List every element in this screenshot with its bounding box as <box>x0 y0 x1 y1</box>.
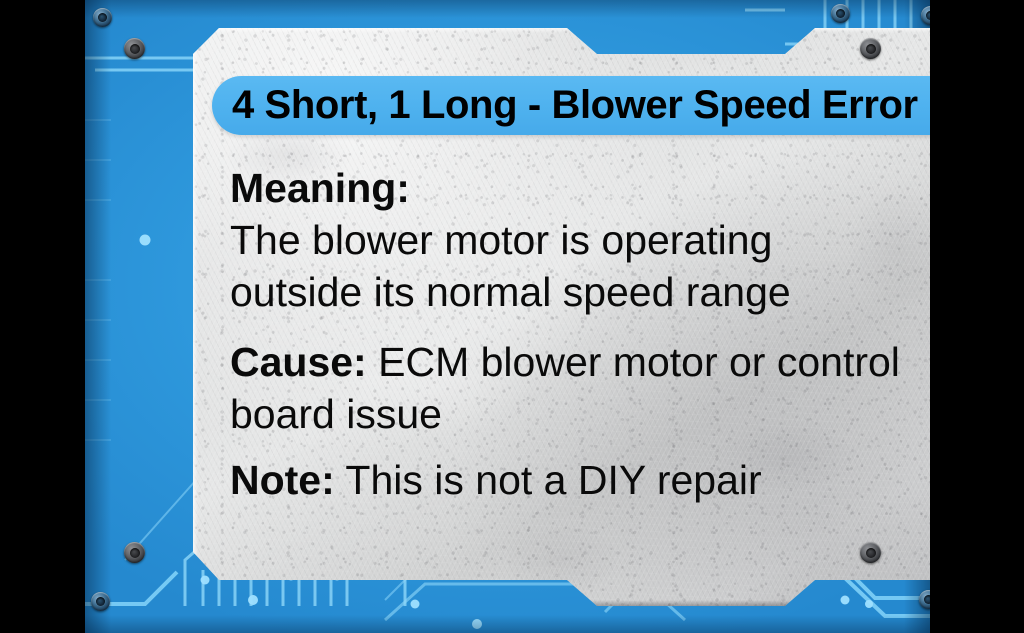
section-note: Note: This is not a DIY repair <box>230 454 930 506</box>
meaning-line-2: outside its normal speed range <box>230 269 791 315</box>
note-label: Note: <box>230 457 335 503</box>
slide-stage: 4 Short, 1 Long - Blower Speed Error Mea… <box>0 0 1024 633</box>
slide-body: Meaning: The blower motor is operating o… <box>230 162 930 520</box>
screw-outer-top-left-icon <box>93 8 112 27</box>
letterbox-left <box>0 0 85 633</box>
screw-top-left-icon <box>124 38 145 59</box>
screw-bottom-right-icon <box>860 542 881 563</box>
page-title: 4 Short, 1 Long - Blower Speed Error <box>232 83 918 128</box>
meaning-label: Meaning: <box>230 165 410 211</box>
note-line-1: This is not a DIY repair <box>345 457 761 503</box>
cause-line-2: board issue <box>230 391 442 437</box>
screw-top-right-icon <box>860 38 881 59</box>
section-cause: Cause: ECM blower motor or control board… <box>230 336 930 440</box>
section-meaning: Meaning: The blower motor is operating o… <box>230 162 930 318</box>
letterbox-right <box>930 0 1024 633</box>
circuit-board-background: 4 Short, 1 Long - Blower Speed Error Mea… <box>85 0 930 633</box>
title-banner: 4 Short, 1 Long - Blower Speed Error <box>212 76 930 135</box>
screw-outer-top-right-icon <box>831 4 850 23</box>
cause-line-1: ECM blower motor or control <box>378 339 900 385</box>
meaning-line-1: The blower motor is operating <box>230 217 772 263</box>
screw-outer-bottom-left-icon <box>91 592 110 611</box>
screw-bottom-left-icon <box>124 542 145 563</box>
cause-label: Cause: <box>230 339 367 385</box>
